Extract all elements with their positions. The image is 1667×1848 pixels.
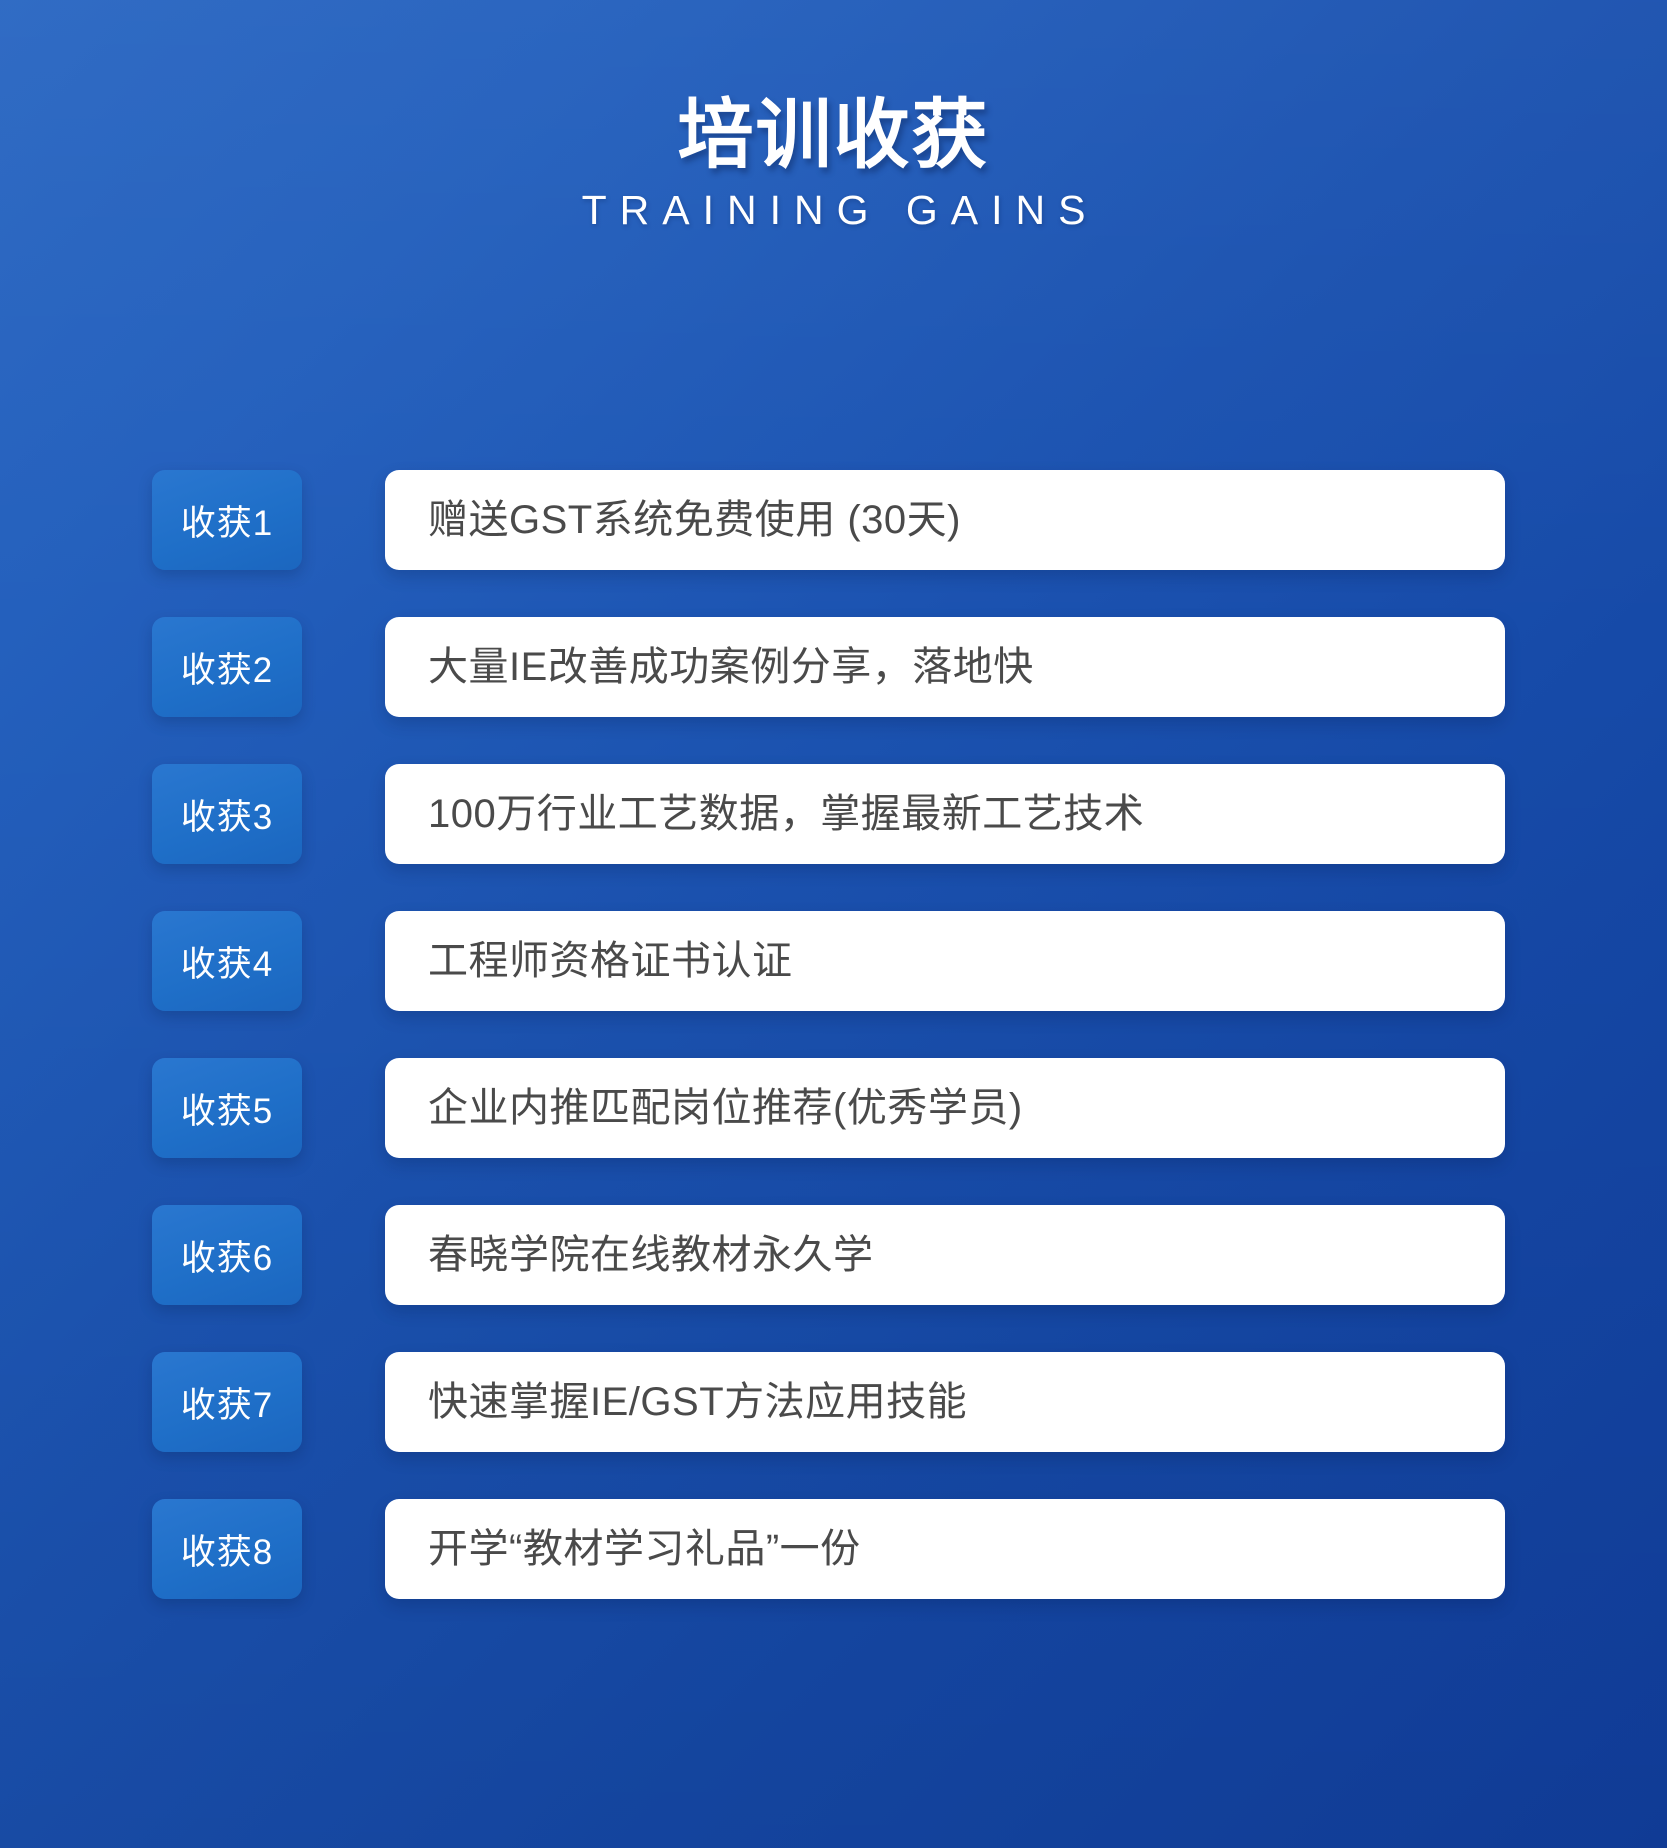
gains-list: 收获1 赠送GST系统免费使用 (30天) 收获2 大量IE改善成功案例分享，落… (0, 470, 1667, 1599)
gain-text-6: 春晓学院在线教材永久学 (385, 1231, 904, 1279)
gain-badge-5: 收获5 (152, 1058, 302, 1158)
gain-text-3: 100万行业工艺数据，掌握最新工艺技术 (385, 790, 1174, 838)
gain-card-5: 企业内推匹配岗位推荐(优秀学员) (385, 1058, 1505, 1158)
gain-text-1: 赠送GST系统免费使用 (30天) (385, 496, 991, 544)
gain-badge-8: 收获8 (152, 1499, 302, 1599)
gain-text-4: 工程师资格证书认证 (385, 937, 823, 985)
list-item: 收获8 开学“教材学习礼品”一份 (0, 1499, 1667, 1599)
list-item: 收获7 快速掌握IE/GST方法应用技能 (0, 1352, 1667, 1452)
poster-header: 培训收获 TRAINING GAINS (0, 96, 1667, 233)
gain-card-2: 大量IE改善成功案例分享，落地快 (385, 617, 1505, 717)
gain-card-1: 赠送GST系统免费使用 (30天) (385, 470, 1505, 570)
gain-text-7: 快速掌握IE/GST方法应用技能 (385, 1378, 997, 1426)
gain-card-8: 开学“教材学习礼品”一份 (385, 1499, 1505, 1599)
list-item: 收获5 企业内推匹配岗位推荐(优秀学员) (0, 1058, 1667, 1158)
gain-badge-7: 收获7 (152, 1352, 302, 1452)
page-title: 培训收获 (0, 96, 1667, 176)
list-item: 收获6 春晓学院在线教材永久学 (0, 1205, 1667, 1305)
list-item: 收获2 大量IE改善成功案例分享，落地快 (0, 617, 1667, 717)
list-item: 收获4 工程师资格证书认证 (0, 911, 1667, 1011)
gain-text-8: 开学“教材学习礼品”一份 (385, 1525, 891, 1573)
gain-badge-4: 收获4 (152, 911, 302, 1011)
gain-text-5: 企业内推匹配岗位推荐(优秀学员) (385, 1084, 1053, 1132)
gain-card-3: 100万行业工艺数据，掌握最新工艺技术 (385, 764, 1505, 864)
training-gains-poster: 培训收获 TRAINING GAINS 收获1 赠送GST系统免费使用 (30天… (0, 0, 1667, 1848)
page-subtitle: TRAINING GAINS (0, 188, 1667, 233)
list-item: 收获1 赠送GST系统免费使用 (30天) (0, 470, 1667, 570)
gain-badge-2: 收获2 (152, 617, 302, 717)
gain-card-4: 工程师资格证书认证 (385, 911, 1505, 1011)
gain-badge-6: 收获6 (152, 1205, 302, 1305)
gain-text-2: 大量IE改善成功案例分享，落地快 (385, 643, 1064, 691)
gain-badge-3: 收获3 (152, 764, 302, 864)
gain-card-6: 春晓学院在线教材永久学 (385, 1205, 1505, 1305)
list-item: 收获3 100万行业工艺数据，掌握最新工艺技术 (0, 764, 1667, 864)
gain-badge-1: 收获1 (152, 470, 302, 570)
gain-card-7: 快速掌握IE/GST方法应用技能 (385, 1352, 1505, 1452)
